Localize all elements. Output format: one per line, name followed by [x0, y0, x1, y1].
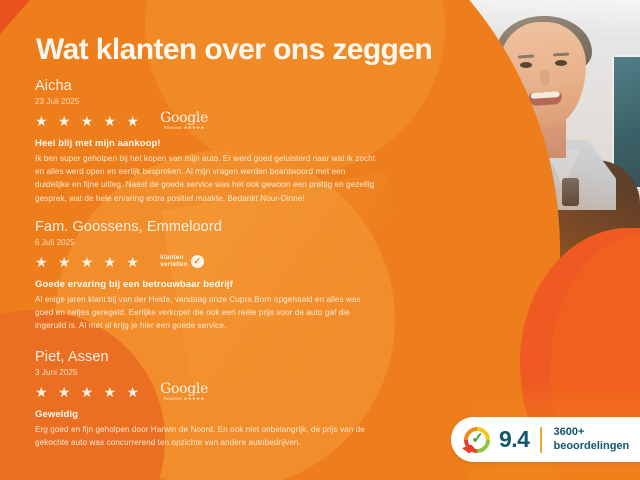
google-wordmark: Google — [160, 382, 208, 396]
rating-badge[interactable]: ✓ 9.4 3600+ beoordelingen — [451, 417, 640, 462]
google-reviews-subtitle: Reviews ★★★★★ — [164, 126, 205, 131]
review-headline: Goede ervaring bij een betrouwbaar bedri… — [35, 279, 380, 290]
google-reviews-logo: Google Reviews ★★★★★ — [160, 111, 208, 131]
klantenvertellen-logo: klanten vertellen ✓ — [160, 255, 204, 269]
reviewer-name: Fam. Goossens, Emmeloord — [35, 219, 380, 236]
check-circle-icon: ✓ — [191, 255, 204, 268]
rating-score: 9.4 — [499, 428, 529, 451]
page-title: Wat klanten over ons zeggen — [36, 33, 432, 67]
google-reviews-subtitle: Reviews ★★★★★ — [164, 397, 205, 402]
review-card: Aicha 23 Juli 2025 ★ ★ ★ ★ ★ Google Revi… — [35, 78, 380, 205]
star-rating: ★ ★ ★ ★ ★ — [35, 114, 142, 128]
review-date: 6 Juli 2025 — [35, 238, 380, 247]
rating-divider — [540, 427, 542, 453]
reviewer-name: Piet, Assen — [35, 349, 380, 366]
star-rating: ★ ★ ★ ★ ★ — [35, 385, 142, 399]
review-meta: ★ ★ ★ ★ ★ Google Reviews ★★★★★ — [35, 111, 380, 131]
google-wordmark: Google — [160, 111, 208, 125]
promo-banner: VDH Wat klanten over ons zeggen Aicha 23… — [0, 0, 640, 480]
review-card: Fam. Goossens, Emmeloord 6 Juli 2025 ★ ★… — [35, 219, 380, 333]
klantenvertellen-line2: vertellen — [160, 262, 188, 269]
review-date: 3 Juni 2025 — [35, 368, 380, 377]
review-body: Erg goed en fijn geholpen door Harwin de… — [35, 423, 380, 450]
review-card: Piet, Assen 3 Juni 2025 ★ ★ ★ ★ ★ Google… — [35, 349, 380, 449]
review-headline: Geweldig — [35, 409, 380, 420]
review-headline: Heel blij met mijn aankoop! — [35, 138, 380, 149]
review-date: 23 Juli 2025 — [35, 97, 380, 106]
review-meta: ★ ★ ★ ★ ★ klanten vertellen ✓ — [35, 252, 380, 272]
review-body: Al enige jaren klant bij van der Heide, … — [35, 293, 380, 333]
rating-count-label: beoordelingen — [553, 440, 629, 453]
review-body: Ik ben super geholpen bij het kopen van … — [35, 152, 380, 205]
klantenvertellen-wordmark: klanten vertellen — [160, 255, 188, 269]
checkmark-icon: ✓ — [470, 431, 485, 447]
star-rating: ★ ★ ★ ★ ★ — [35, 255, 142, 269]
google-reviews-logo: Google Reviews ★★★★★ — [160, 382, 208, 402]
rating-count: 3600+ — [553, 426, 629, 439]
klantenvertellen-seal-icon: ✓ — [464, 427, 490, 453]
reviewer-name: Aicha — [35, 78, 380, 95]
review-meta: ★ ★ ★ ★ ★ Google Reviews ★★★★★ — [35, 382, 380, 402]
rating-count-block: 3600+ beoordelingen — [553, 426, 629, 453]
